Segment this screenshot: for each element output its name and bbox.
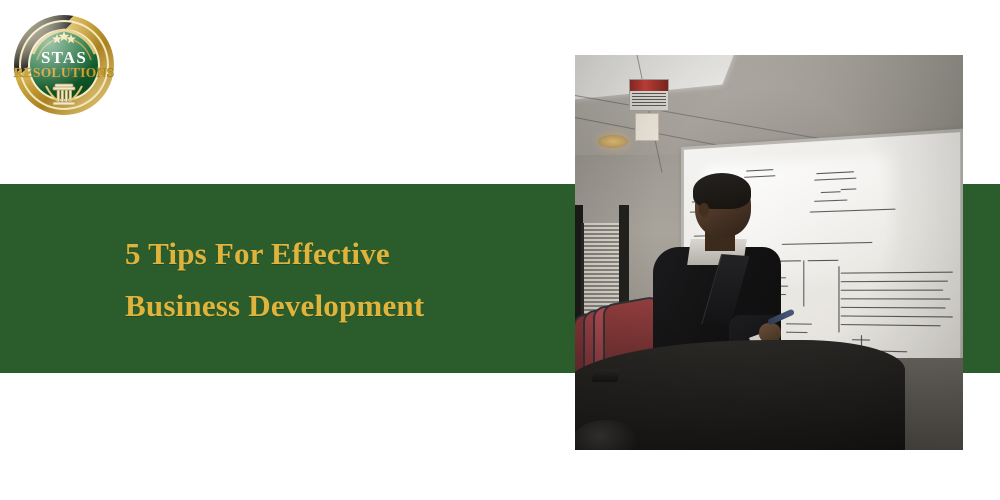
stas-resolutions-logo[interactable]: STAS RESOLUTIONS [13,14,115,116]
page-title: 5 Tips For Effective Business Developmen… [125,228,545,332]
blog-header-banner: STAS RESOLUTIONS 5 Tips For Effective Bu… [0,0,1000,500]
page-title-line-1: 5 Tips For Effective [125,228,545,280]
wall-box-red-header [630,80,668,91]
wall-note-paper [635,113,659,141]
photo-scene [575,55,963,450]
wall-mounted-box [629,79,669,111]
recessed-downlight-icon [598,135,628,148]
conference-table [575,340,905,450]
person-ear [699,203,709,217]
conference-room-whiteboard-photo [575,55,963,450]
wall-box-text-lines [632,93,666,107]
logo-emblem-icon: STAS RESOLUTIONS [13,14,115,116]
table-edge-object [575,420,641,450]
table-object [591,369,620,382]
page-title-line-2: Business Development [125,280,545,332]
